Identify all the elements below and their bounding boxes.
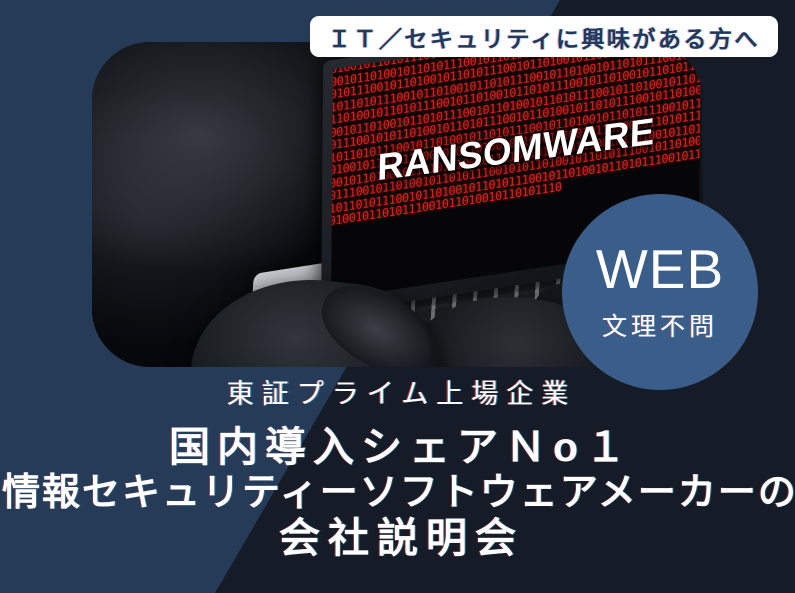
headline-eyebrow: 東証プライム上場企業 xyxy=(0,372,795,411)
web-badge: WEB 文理不問 xyxy=(562,194,758,390)
web-badge-title: WEB xyxy=(596,242,724,297)
web-badge-subtitle: 文理不問 xyxy=(602,307,718,343)
top-banner-text: ＩＴ／セキュリティに興味がある方へ xyxy=(328,20,760,54)
top-banner-pill: ＩＴ／セキュリティに興味がある方へ xyxy=(310,16,778,57)
headline-line-2: 情報セキュリティーソフトウェアメーカーの xyxy=(0,471,795,516)
headline-line-1: 国内導入シェアＮo１ xyxy=(0,425,795,471)
promo-poster: 0100101101011100101011010010110101110010… xyxy=(0,0,795,593)
headline-block: 東証プライム上場企業 国内導入シェアＮo１ 情報セキュリティーソフトウェアメーカ… xyxy=(0,372,795,562)
headline-line-3: 会社説明会 xyxy=(0,516,795,562)
